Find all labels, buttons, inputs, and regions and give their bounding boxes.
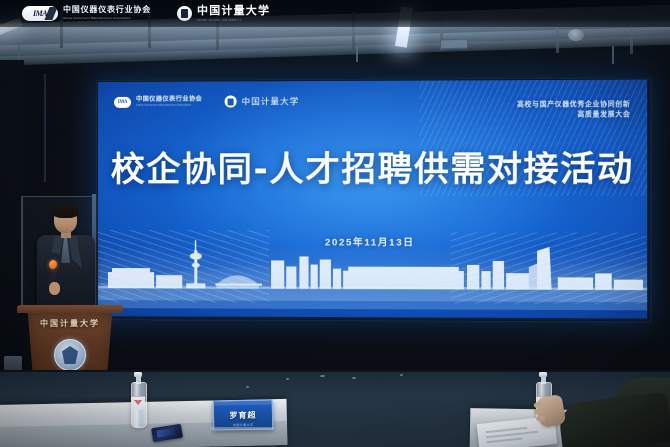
attendee-hand bbox=[536, 394, 567, 428]
speaker-hand bbox=[49, 282, 60, 295]
screen-association-name-cn: 中国仪器仪表行业协会 bbox=[136, 96, 202, 102]
paper-line bbox=[487, 437, 523, 442]
overlay-header-bar: IMA 中国仪器仪表行业协会 China Instrument Manufact… bbox=[0, 0, 670, 27]
university-seal-icon bbox=[224, 95, 236, 107]
ima-logo-icon: IMA bbox=[22, 6, 58, 21]
screen-subtitle-line1: 高校与国产仪器优秀企业协同创新 bbox=[517, 100, 630, 110]
wall-trim bbox=[44, 74, 46, 182]
screen-university-logo: 中国计量大学 bbox=[224, 95, 299, 107]
led-presentation-screen: IMA 中国仪器仪表行业协会 China Instrument Manufact… bbox=[98, 80, 647, 319]
screen-university-name-cn: 中国计量大学 bbox=[242, 95, 300, 107]
finger bbox=[533, 401, 543, 409]
ceiling-vent bbox=[440, 39, 468, 50]
bottle-neck bbox=[541, 376, 546, 384]
conference-photo-scene: IMA 中国仪器仪表行业协会 China Instrument Manufact… bbox=[0, 0, 670, 447]
placard-name-text: 罗育超 bbox=[229, 409, 256, 420]
speaker-hair bbox=[52, 204, 79, 218]
university-emblem-icon bbox=[54, 339, 86, 371]
finger bbox=[536, 415, 546, 421]
floor-speck bbox=[352, 377, 356, 379]
bottle-cap bbox=[134, 372, 142, 377]
bottle-neck bbox=[136, 376, 141, 384]
ceiling-hanger bbox=[612, 46, 614, 64]
placard-base bbox=[210, 427, 274, 430]
bottle-label bbox=[131, 396, 145, 410]
ceiling-hanger bbox=[356, 46, 358, 62]
screen-association-name-en: China Instrument Manufactures Associatio… bbox=[136, 104, 202, 107]
skyline-ground-glow bbox=[98, 246, 647, 310]
header-university-name-en: CHINA JILIANG UNIVERSITY bbox=[197, 19, 270, 22]
screen-skyline-graphic bbox=[98, 226, 647, 298]
speaker-person bbox=[34, 206, 100, 318]
placard-top-band bbox=[214, 400, 272, 405]
header-association-name-cn: 中国仪器仪表行业协会 bbox=[63, 6, 151, 15]
screen-subtitle-line2: 高质量发展大会 bbox=[517, 110, 630, 120]
finger bbox=[533, 408, 544, 415]
university-seal-icon bbox=[177, 6, 192, 21]
floor-speck bbox=[246, 386, 249, 388]
bottle-cap bbox=[539, 372, 547, 377]
header-association-name-en: China Instrument Manufactures Associatio… bbox=[63, 17, 151, 20]
screen-logo-row: IMA 中国仪器仪表行业协会 China Instrument Manufact… bbox=[114, 95, 299, 108]
floor-speck bbox=[400, 374, 403, 376]
ceiling-fixture bbox=[568, 29, 584, 41]
header-university-name-cn: 中国计量大学 bbox=[197, 5, 270, 17]
screen-main-title: 校企协同-人才招聘供需对接活动 bbox=[98, 141, 647, 191]
ima-logo-text: IMA bbox=[33, 9, 47, 18]
floor-speck bbox=[320, 375, 325, 377]
screen-event-subtitle: 高校与国产仪器优秀企业协同创新 高质量发展大会 bbox=[517, 100, 630, 120]
name-placard-center: 罗育超 中国计量大学 bbox=[213, 399, 274, 430]
header-association-logo: IMA 中国仪器仪表行业协会 China Instrument Manufact… bbox=[22, 6, 151, 21]
floor-speck bbox=[286, 378, 289, 380]
ima-logo-icon: IMA bbox=[114, 96, 131, 107]
ceiling-hanger bbox=[18, 44, 20, 60]
podium-top-surface bbox=[17, 305, 123, 313]
screen-association-logo: IMA 中国仪器仪表行业协会 China Instrument Manufact… bbox=[114, 96, 202, 107]
podium-university-text: 中国计量大学 bbox=[17, 318, 123, 329]
header-university-logo: 中国计量大学 CHINA JILIANG UNIVERSITY bbox=[177, 5, 270, 22]
